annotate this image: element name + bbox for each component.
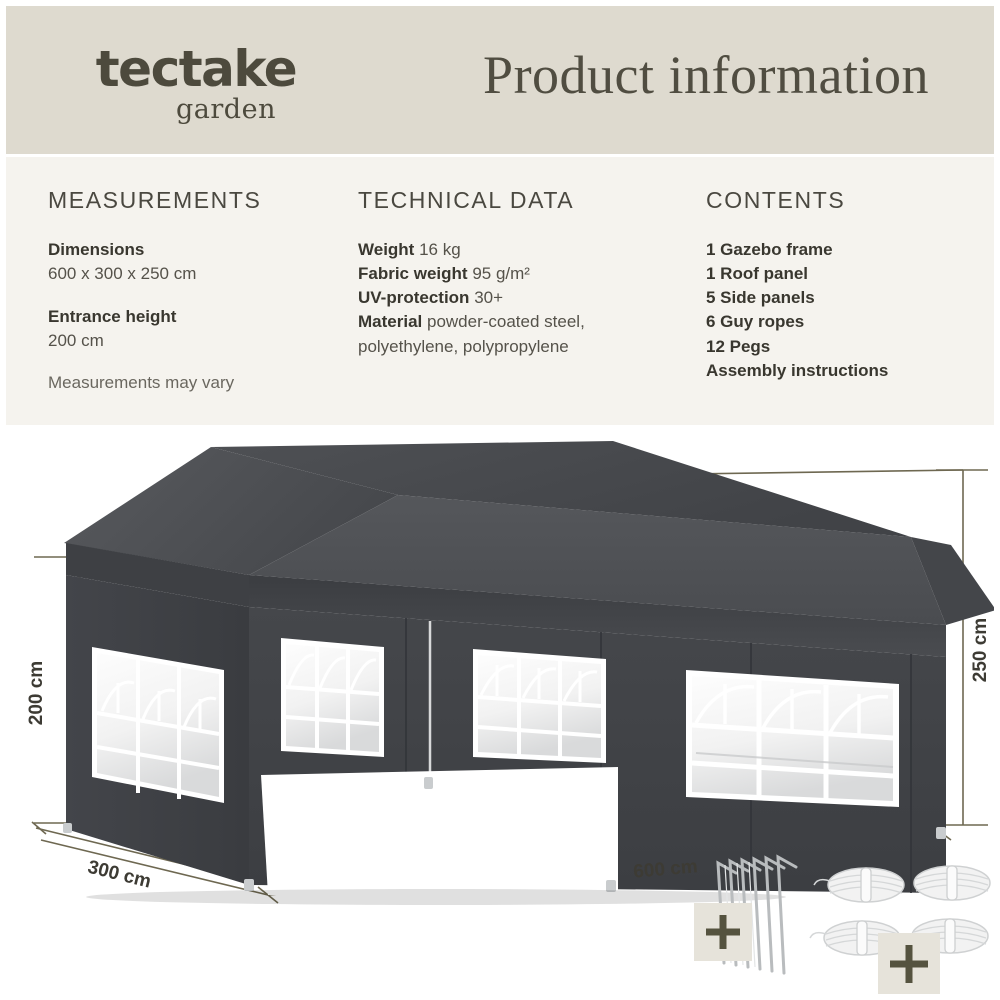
contents-heading: CONTENTS — [706, 187, 986, 214]
brand-logo: tectake garden — [66, 44, 326, 123]
list-item: 1 Gazebo frame — [706, 238, 986, 262]
rope-coil — [914, 866, 990, 900]
page-title: Product information — [436, 44, 976, 106]
entrance-height-value: 200 cm — [48, 329, 348, 353]
brand-logo-main: tectake — [66, 44, 326, 94]
weight-value: 16 kg — [419, 240, 461, 259]
entrance-height-label: Entrance height — [48, 305, 348, 329]
contents-list: 1 Gazebo frame 1 Roof panel 5 Side panel… — [706, 238, 986, 383]
dimensions-block: Dimensions 600 x 300 x 250 cm — [48, 238, 348, 286]
dimension-label-right: 250 cm — [970, 618, 991, 682]
contents-column: CONTENTS 1 Gazebo frame 1 Roof panel 5 S… — [706, 187, 986, 383]
material-value: powder-coated steel, — [427, 312, 585, 331]
window-panel-2 — [281, 638, 384, 757]
window-left-panel — [92, 647, 224, 803]
window-panel-3 — [473, 649, 606, 763]
list-item: 5 Side panels — [706, 286, 986, 310]
brand-logo-sub: garden — [126, 96, 326, 123]
product-illustration-area: 200 cm 250 cm 300 cm 600 cm — [6, 425, 994, 994]
technical-data-column: TECHNICAL DATA Weight 16 kg Fabric weigh… — [358, 187, 688, 359]
material-label: Material — [358, 312, 422, 331]
accessory-guy-ropes — [810, 866, 990, 994]
material-row: Material powder-coated steel, — [358, 310, 688, 334]
dimension-label-front: 300 cm — [86, 857, 154, 893]
weight-label: Weight — [358, 240, 414, 259]
ground-shadow — [86, 889, 786, 905]
measurements-column: MEASUREMENTS Dimensions 600 x 300 x 250 … — [48, 187, 348, 393]
measurements-heading: MEASUREMENTS — [48, 187, 348, 214]
product-information-sheet: tectake garden Product information MEASU… — [0, 0, 1000, 1000]
dimensions-value: 600 x 300 x 250 cm — [48, 262, 348, 286]
entrance-height-block: Entrance height 200 cm — [48, 305, 348, 353]
window-panel-right — [686, 670, 899, 807]
gazebo-illustration: 200 cm 250 cm 300 cm 600 cm — [6, 425, 994, 994]
dimensions-label: Dimensions — [48, 238, 348, 262]
gazebo-model — [63, 441, 994, 905]
fabric-weight-value: 95 g/m² — [472, 264, 530, 283]
fabric-weight-row: Fabric weight 95 g/m² — [358, 262, 688, 286]
weight-row: Weight 16 kg — [358, 238, 688, 262]
list-item: 1 Roof panel — [706, 262, 986, 286]
uv-protection-label: UV-protection — [358, 288, 469, 307]
fabric-weight-label: Fabric weight — [358, 264, 468, 283]
list-item: 12 Pegs — [706, 335, 986, 359]
uv-protection-row: UV-protection 30+ — [358, 286, 688, 310]
measurements-note: Measurements may vary — [48, 373, 348, 393]
list-item: Assembly instructions — [706, 359, 986, 383]
uv-protection-value: 30+ — [474, 288, 503, 307]
list-item: 6 Guy ropes — [706, 310, 986, 334]
header-band: tectake garden Product information — [6, 6, 994, 154]
material-value-continued: polyethylene, polypropylene — [358, 335, 688, 359]
info-panel: MEASUREMENTS Dimensions 600 x 300 x 250 … — [6, 157, 994, 425]
technical-data-heading: TECHNICAL DATA — [358, 187, 688, 214]
dimension-label-left: 200 cm — [26, 661, 47, 725]
